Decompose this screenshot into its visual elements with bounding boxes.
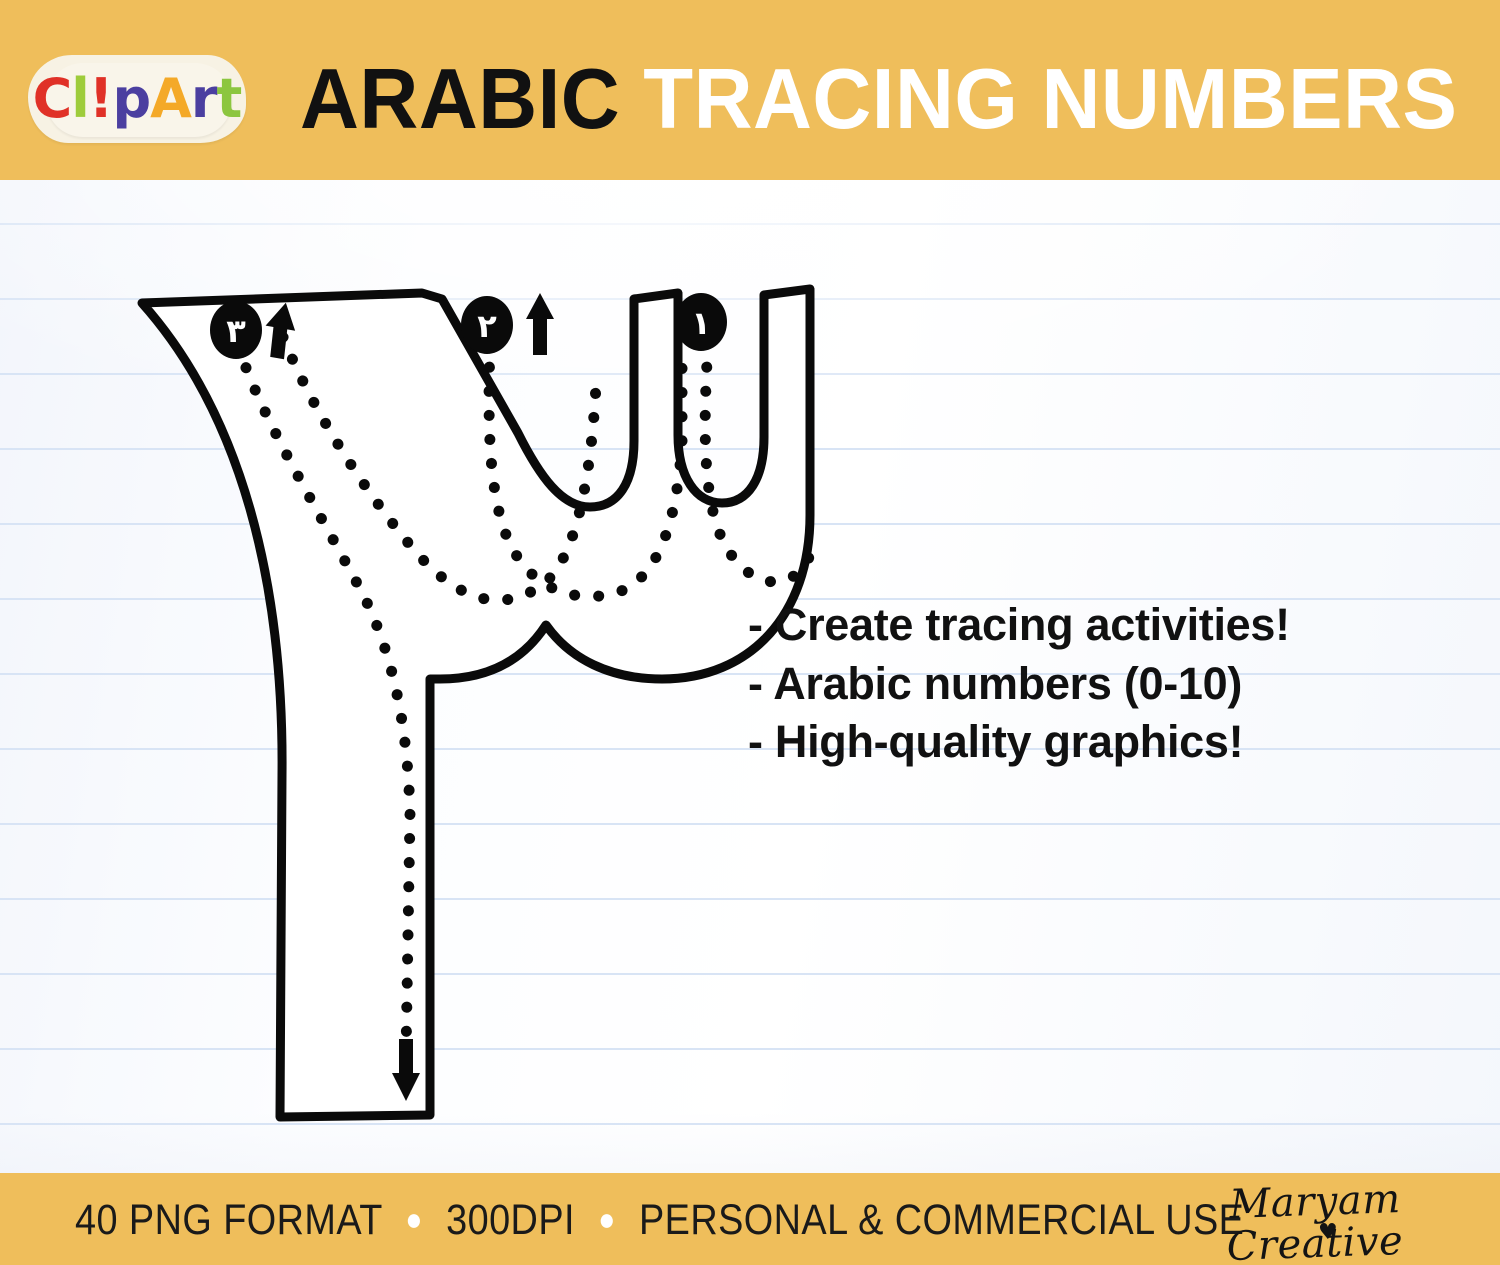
stroke-marker-2-label: ٢ bbox=[477, 307, 497, 345]
brand-signature: Maryam Creative ♥ bbox=[1200, 1182, 1430, 1264]
logo-letter-t: t bbox=[217, 72, 242, 126]
stroke-marker-1: ١ bbox=[675, 293, 727, 351]
stroke-marker-3: ٣ bbox=[210, 301, 262, 359]
poster-canvas: ٣ ٢ ١ - Create tracing activities! - Ara… bbox=[0, 0, 1500, 1265]
logo-lettering: C l ! p A r t bbox=[28, 55, 246, 143]
logo-letter-r: r bbox=[191, 72, 217, 126]
logo-letter-c: C bbox=[33, 72, 72, 126]
stroke-marker-1-label: ١ bbox=[691, 304, 711, 342]
heart-icon: ♥ bbox=[1318, 1222, 1338, 1244]
header-banner: C l ! p A r t ARABIC TRACING NUMBERS bbox=[0, 0, 1500, 180]
feature-item: - Create tracing activities! bbox=[748, 596, 1290, 655]
footer-separator-dot: ● bbox=[598, 1201, 615, 1237]
title-word-arabic: ARABIC bbox=[300, 51, 620, 149]
brand-line-creative: Creative bbox=[1199, 1220, 1430, 1265]
logo-letter-exclamation: ! bbox=[89, 72, 113, 126]
logo-letter-p: p bbox=[112, 72, 150, 126]
logo-letter-l: l bbox=[71, 72, 89, 126]
logo-letter-a: A bbox=[150, 72, 191, 126]
footer-item-license: PERSONAL & COMMERCIAL USE bbox=[639, 1196, 1244, 1244]
footer-item-format: 40 PNG FORMAT bbox=[75, 1196, 382, 1244]
stroke-arrow-up-2 bbox=[526, 293, 554, 355]
feature-item: - High-quality graphics! bbox=[748, 713, 1290, 772]
arabic-numeral-three-artwork: ٣ ٢ ١ bbox=[110, 255, 820, 1135]
feature-list: - Create tracing activities! - Arabic nu… bbox=[748, 596, 1290, 772]
page-title: ARABIC TRACING NUMBERS bbox=[300, 52, 1457, 147]
stroke-marker-3-label: ٣ bbox=[226, 312, 246, 350]
footer-specs: 40 PNG FORMAT ● 300DPI ● PERSONAL & COMM… bbox=[75, 1196, 1244, 1245]
clipart-logo: C l ! p A r t bbox=[28, 55, 246, 143]
feature-item: - Arabic numbers (0-10) bbox=[748, 655, 1290, 714]
footer-item-dpi: 300DPI bbox=[446, 1196, 575, 1244]
stroke-marker-2: ٢ bbox=[461, 296, 513, 354]
footer-separator-dot: ● bbox=[405, 1201, 422, 1237]
title-word-tracing-numbers: TRACING NUMBERS bbox=[643, 51, 1457, 149]
